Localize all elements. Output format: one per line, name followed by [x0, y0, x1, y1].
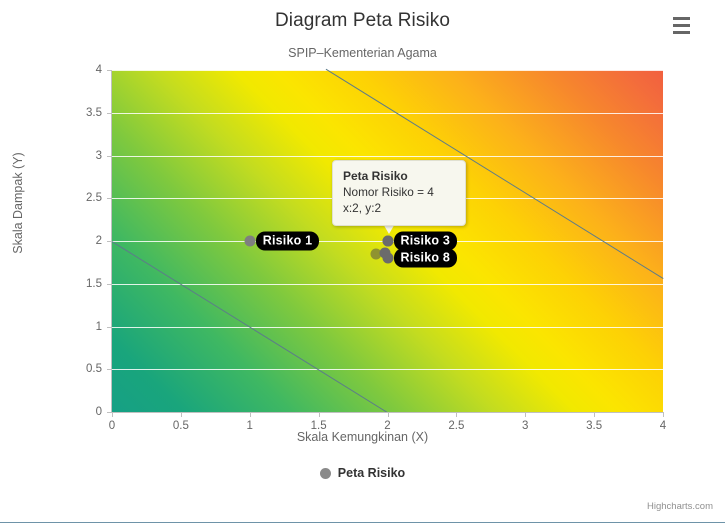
y-tick-label: 0.5 [60, 363, 102, 375]
data-point[interactable] [244, 236, 255, 247]
highcharts-credit-link[interactable]: Highcharts.com [647, 501, 713, 512]
y-tick-label: 2.5 [60, 192, 102, 204]
y-tick-mark [107, 241, 112, 242]
x-axis-title: Skala Kemungkinan (X) [0, 430, 725, 444]
y-tick-label: 1 [60, 321, 102, 333]
tooltip: Peta Risiko Nomor Risiko = 4 x:2, y:2 [332, 160, 466, 226]
y-tick-label: 3.5 [60, 107, 102, 119]
hamburger-bar-3 [673, 31, 690, 34]
y-tick-mark [107, 369, 112, 370]
y-tick-mark [107, 113, 112, 114]
y-axis-title: Skala Dampak (Y) [11, 103, 25, 303]
gridline [112, 284, 663, 285]
data-point-label: Risiko 1 [256, 232, 320, 251]
x-tick-mark [250, 412, 251, 417]
chart-title: Diagram Peta Risiko [0, 10, 725, 32]
x-tick-mark [594, 412, 595, 417]
x-tick-mark [181, 412, 182, 417]
x-tick-mark [319, 412, 320, 417]
x-tick-mark [663, 412, 664, 417]
y-tick-mark [107, 70, 112, 71]
gridline [112, 369, 663, 370]
y-tick-label: 2 [60, 235, 102, 247]
legend-item-label: Peta Risiko [338, 466, 405, 480]
hamburger-menu-icon[interactable] [667, 12, 695, 38]
gridline [112, 327, 663, 328]
plot-area: Risiko 1Risiko 3Risiko 8 [112, 70, 663, 412]
y-tick-label: 0 [60, 406, 102, 418]
y-tick-mark [107, 412, 112, 413]
data-point[interactable] [382, 236, 393, 247]
x-tick-mark [456, 412, 457, 417]
x-tick-mark [525, 412, 526, 417]
gridline [112, 113, 663, 114]
hamburger-bar-1 [673, 17, 690, 20]
legend[interactable]: Peta Risiko [0, 466, 725, 480]
data-point[interactable] [379, 247, 390, 258]
y-tick-label: 3 [60, 150, 102, 162]
gridline [112, 70, 663, 71]
gridline [112, 156, 663, 157]
x-tick-mark [112, 412, 113, 417]
hamburger-bar-2 [673, 24, 690, 27]
tooltip-title: Peta Risiko [343, 168, 456, 184]
chart-subtitle: SPIP–Kementerian Agama [0, 46, 725, 60]
y-tick-label: 1.5 [60, 278, 102, 290]
y-tick-mark [107, 198, 112, 199]
y-tick-mark [107, 156, 112, 157]
tooltip-coords: x:2, y:2 [343, 201, 456, 217]
legend-marker-icon [320, 468, 331, 479]
x-tick-mark [388, 412, 389, 417]
y-tick-mark [107, 327, 112, 328]
y-tick-mark [107, 284, 112, 285]
tooltip-nomor: Nomor Risiko = 4 [343, 185, 456, 201]
highcharts-container: Diagram Peta Risiko SPIP–Kementerian Aga… [0, 0, 725, 523]
data-point-label: Risiko 8 [394, 249, 458, 268]
y-tick-label: 4 [60, 64, 102, 76]
